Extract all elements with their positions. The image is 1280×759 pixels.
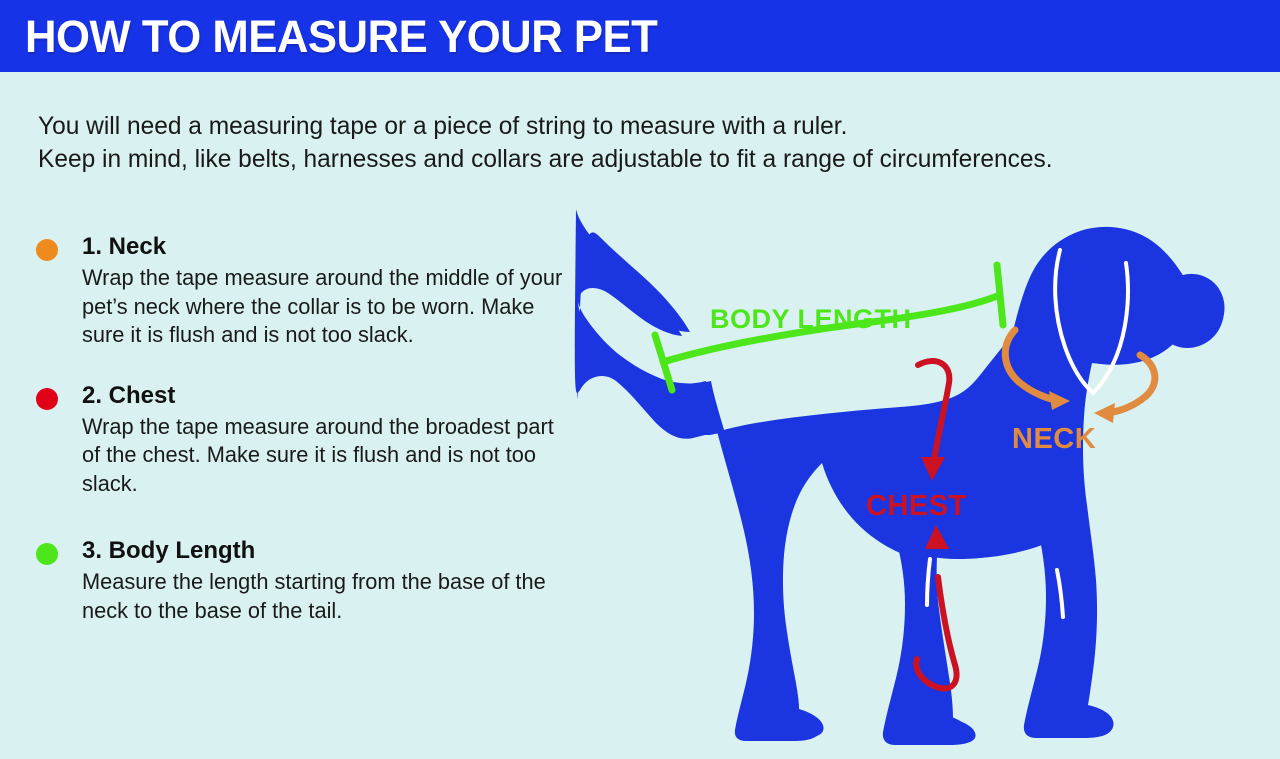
label-chest: CHEST xyxy=(866,490,967,522)
step-desc-body-length: Measure the length starting from the bas… xyxy=(82,568,569,625)
infographic-root: HOW TO MEASURE YOUR PET You will need a … xyxy=(0,0,1280,759)
step-desc-chest: Wrap the tape measure around the broades… xyxy=(82,413,569,499)
intro-line-1: You will need a measuring tape or a piec… xyxy=(38,110,1145,143)
intro-text: You will need a measuring tape or a piec… xyxy=(38,110,1168,176)
step-title-chest: 2. Chest xyxy=(82,381,566,410)
label-neck: NECK xyxy=(1012,423,1096,455)
step-item-chest: 2. Chest Wrap the tape measure around th… xyxy=(36,381,566,499)
bullet-dot-icon-body-length xyxy=(36,543,58,565)
neck-arrowhead-right xyxy=(1094,403,1115,423)
bullet-dot-icon-chest xyxy=(36,388,58,410)
dog-silhouette-icon xyxy=(575,209,1225,745)
intro-line-2: Keep in mind, like belts, harnesses and … xyxy=(38,143,1145,176)
label-body-length: BODY LENGTH xyxy=(710,304,912,334)
body-length-tick-right xyxy=(997,265,1003,325)
dog-measurement-diagram: BODY LENGTH NECK CHEST xyxy=(560,185,1260,745)
page-title: HOW TO MEASURE YOUR PET xyxy=(25,11,657,63)
step-item-neck: 1. Neck Wrap the tape measure around the… xyxy=(36,232,566,350)
step-title-body-length: 3. Body Length xyxy=(82,536,566,565)
measurement-steps-list: 1. Neck Wrap the tape measure around the… xyxy=(36,232,566,656)
bullet-dot-icon-neck xyxy=(36,239,58,261)
step-desc-neck: Wrap the tape measure around the middle … xyxy=(82,264,569,350)
step-title-neck: 1. Neck xyxy=(82,232,566,261)
step-item-body-length: 3. Body Length Measure the length starti… xyxy=(36,536,566,625)
